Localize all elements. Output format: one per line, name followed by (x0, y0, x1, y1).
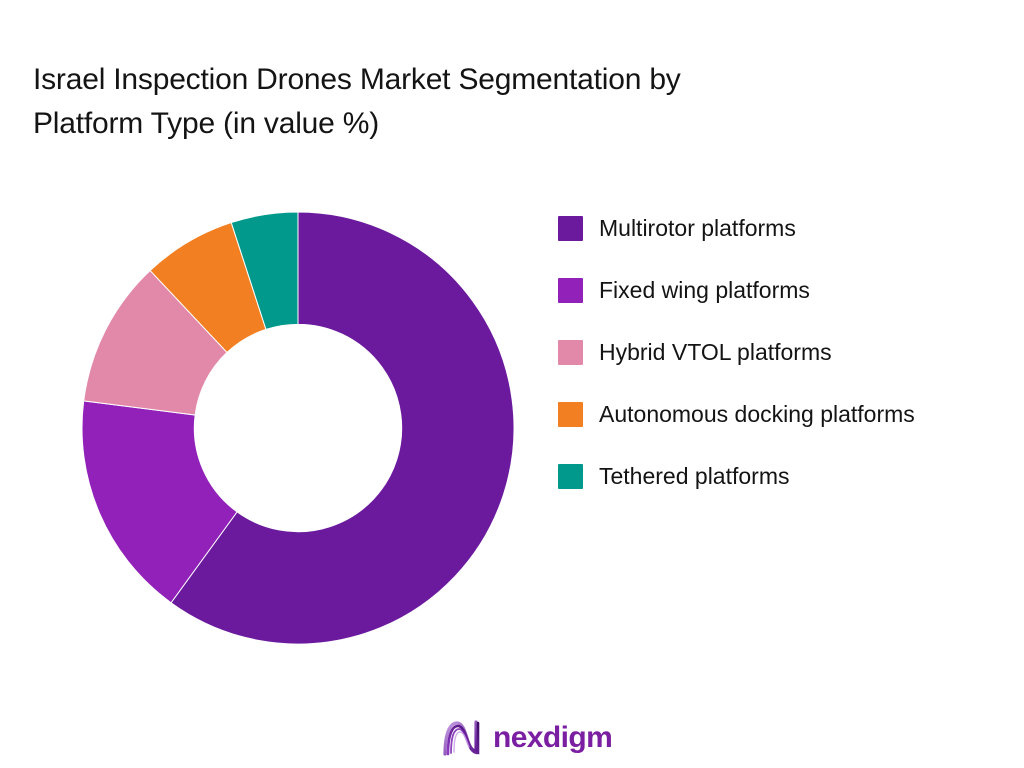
legend-item-label: Tethered platforms (599, 460, 789, 493)
page-title: Israel Inspection Drones Market Segmenta… (33, 58, 893, 146)
legend-item-label: Autonomous docking platforms (599, 398, 915, 431)
legend-item[interactable]: Autonomous docking platforms (558, 398, 978, 431)
legend-item[interactable]: Multirotor platforms (558, 212, 978, 245)
brand-logo: nexdigm (440, 714, 612, 762)
donut-chart (82, 212, 514, 644)
chart-legend: Multirotor platformsFixed wing platforms… (558, 212, 978, 493)
legend-color-swatch (558, 464, 583, 489)
legend-color-swatch (558, 216, 583, 241)
legend-item[interactable]: Hybrid VTOL platforms (558, 336, 978, 369)
legend-item[interactable]: Tethered platforms (558, 460, 978, 493)
donut-chart-svg (82, 212, 514, 644)
legend-item-label: Fixed wing platforms (599, 274, 810, 307)
brand-wordmark: nexdigm (493, 723, 612, 753)
legend-item[interactable]: Fixed wing platforms (558, 274, 978, 307)
legend-item-label: Multirotor platforms (599, 212, 796, 245)
nexdigm-wave-icon (440, 717, 484, 759)
legend-color-swatch (558, 340, 583, 365)
legend-color-swatch (558, 278, 583, 303)
legend-item-label: Hybrid VTOL platforms (599, 336, 832, 369)
donut-slice-group (82, 212, 514, 644)
legend-color-swatch (558, 402, 583, 427)
